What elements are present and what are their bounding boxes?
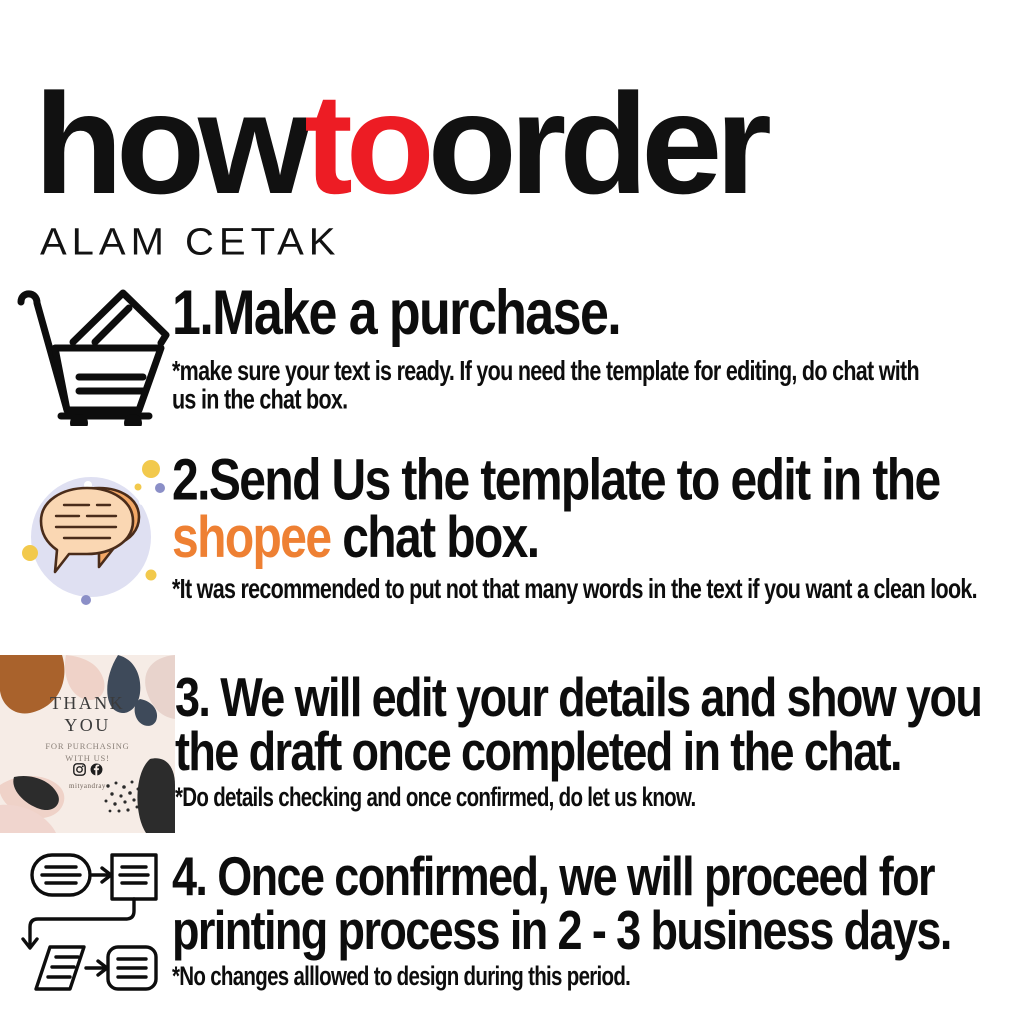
step-heading-2-after: chat box. [330,506,538,571]
step-body-3: 3. We will edit your details and show yo… [175,655,1024,806]
title-part-how: how [34,65,304,224]
social-icons-group [73,763,103,776]
step-note-2: *It was recommended to put not that many… [172,576,992,604]
step-row-2: 2.Send Us the template to edit in the sh… [10,452,1014,616]
thank-you-card: THANK YOU FOR PURCHASING WITH US! mityan… [0,655,175,833]
step-note-1: *make sure your text is ready. If you ne… [172,358,942,415]
step-row-1: 1.Make a purchase. *make sure your text … [10,283,1014,427]
chat-bubbles-icon [10,454,172,616]
shopping-cart-icon [10,287,172,427]
flowchart-icon [10,842,172,994]
thank-you-line-2: YOU [64,715,110,736]
poster-root: howtoorder ALAM CETAK 1.Make a purchase.… [0,0,1024,1024]
step-row-4: 4. Once confirmed, we will proceed for p… [10,838,1024,994]
instagram-icon [73,763,86,776]
step-heading-2: 2.Send Us the template to edit in the sh… [172,452,972,567]
step-body-4: 4. Once confirmed, we will proceed for p… [172,838,1024,985]
step-note-3: *Do details checking and once confirmed,… [175,785,1005,812]
title-part-order: order [428,65,765,224]
page-title: howtoorder [34,84,993,207]
facebook-icon [90,763,103,776]
step-heading-1: 1.Make a purchase. [172,283,1014,345]
brand-name: ALAM CETAK [40,221,974,264]
social-handle: mityandray [69,782,106,790]
thank-you-line-1: THANK [50,693,125,714]
step-heading-2-before: 2.Send Us the template to edit in the [172,448,940,513]
step-heading-4: 4. Once confirmed, we will proceed for p… [172,850,1002,958]
step-body-2: 2.Send Us the template to edit in the sh… [172,452,1014,598]
thank-you-sub-2: WITH US! [65,753,109,763]
title-part-to: to [304,65,427,224]
shopee-brand-word: shopee [172,506,330,571]
step-row-3: THANK YOU FOR PURCHASING WITH US! mityan… [0,655,1024,833]
step-note-4: *No changes alllowed to design during th… [172,964,992,991]
thank-you-sub-1: FOR PURCHASING [45,741,129,751]
step-heading-3: 3. We will edit your details and show yo… [175,671,1015,779]
step-body-1: 1.Make a purchase. *make sure your text … [172,283,1014,402]
poster-header: howtoorder ALAM CETAK [34,84,974,266]
thank-you-card-image: THANK YOU FOR PURCHASING WITH US! mityan… [0,655,175,833]
